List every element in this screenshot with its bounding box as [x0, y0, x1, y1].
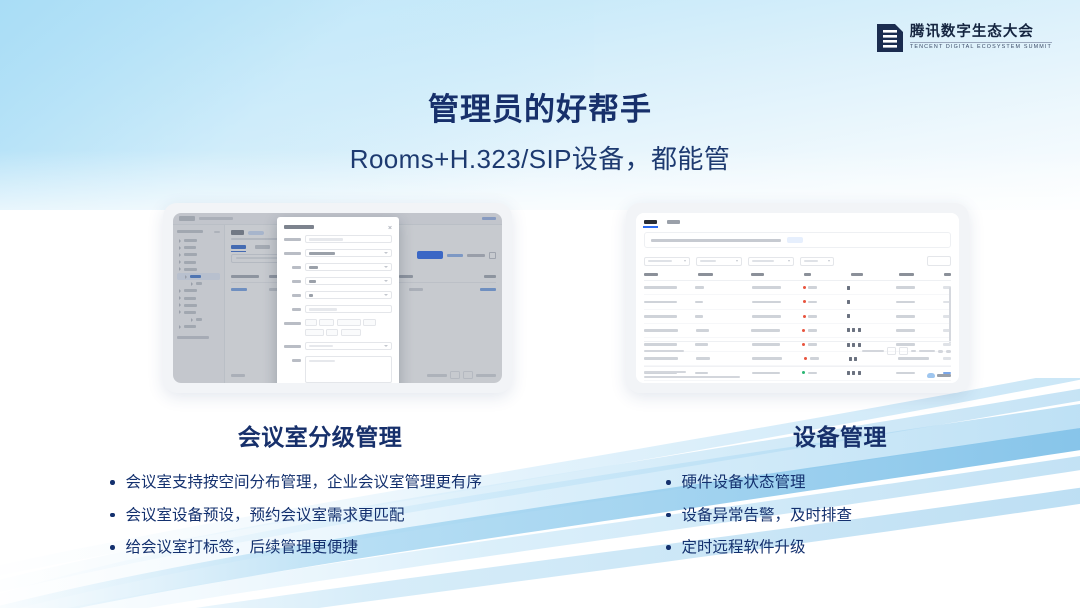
bullet-text: 硬件设备状态管理: [682, 474, 806, 493]
table-scrollbar[interactable]: [949, 287, 951, 343]
footer-copyright: [644, 376, 740, 378]
modal-field-room-name: [284, 235, 392, 243]
tencent-summit-mark-icon: [875, 22, 903, 54]
screenshot-device-management: [626, 203, 969, 393]
province-select[interactable]: [305, 263, 392, 271]
modal-field-floor: [284, 291, 392, 299]
page-info: [862, 350, 884, 353]
room-name-input[interactable]: [305, 235, 392, 243]
next-page-button[interactable]: [938, 350, 943, 353]
mic-icon: [847, 286, 850, 290]
bullet-dot-icon: [666, 480, 671, 485]
bullet-text: 给会议室打标签，后续管理更便捷: [126, 539, 359, 558]
city-select[interactable]: [305, 277, 392, 285]
mic-icon: [852, 328, 855, 332]
prev-page-button[interactable]: [899, 347, 908, 355]
mic-icon: [854, 357, 857, 361]
floor-select[interactable]: [305, 291, 392, 299]
screenshot-room-management: [163, 203, 512, 393]
modal-field-room-location: [284, 249, 392, 257]
row-action-button[interactable]: [943, 357, 951, 360]
health-icons: [847, 300, 864, 304]
bullet-dot-icon: [666, 545, 671, 550]
mic-icon: [847, 314, 850, 318]
speaker-icon: [858, 328, 861, 332]
screenshot-left-inner: [173, 213, 502, 383]
bullet-dot-icon: [110, 545, 115, 550]
table-row[interactable]: [644, 295, 951, 309]
bullet-text: 会议室支持按空间分布管理，企业会议室管理更有序: [126, 474, 483, 493]
column-device-management: 设备管理 硬件设备状态管理 设备异常告警，及时排查 定时远程软件升级: [630, 418, 1050, 572]
page-subtitle: Rooms+H.323/SIP设备，都能管: [0, 139, 1080, 176]
filter-bar: [644, 256, 951, 266]
right-pagination: [644, 341, 951, 355]
remark-textarea[interactable]: [305, 356, 392, 383]
modal-field-city: [284, 277, 392, 285]
notice-text: [651, 239, 781, 242]
table-row[interactable]: [644, 310, 951, 324]
bullet-dot-icon: [110, 480, 115, 485]
room-location-select[interactable]: [305, 249, 392, 257]
table-row[interactable]: [644, 381, 951, 384]
modal-header: [284, 225, 392, 229]
list-item: 硬件设备状态管理: [666, 474, 1050, 493]
create-room-modal: [277, 217, 399, 383]
list-item: 定时远程软件升级: [666, 539, 1050, 558]
system-notice-bar: [644, 232, 951, 248]
device-tag[interactable]: [305, 319, 317, 326]
column-heading: 设备管理: [630, 418, 1050, 452]
refresh-button[interactable]: [927, 256, 951, 266]
room-devices-tag-group: [305, 319, 392, 336]
device-tag[interactable]: [326, 329, 338, 336]
logo-title-cn: 腾讯数字生态大会: [910, 25, 1052, 40]
list-item: 会议室支持按空间分布管理，企业会议室管理更有序: [110, 474, 580, 493]
device-tag[interactable]: [337, 319, 361, 326]
room-type-select[interactable]: [305, 342, 392, 350]
logo-title-en: TENCENT DIGITAL ECOSYSTEM SUMMIT: [910, 42, 1052, 51]
bullet-list: 会议室支持按空间分布管理，企业会议室管理更有序 会议室设备预设，预约会议室需求更…: [110, 474, 580, 558]
slide-root: 腾讯数字生态大会 TENCENT DIGITAL ECOSYSTEM SUMMI…: [0, 0, 1080, 608]
tab-devices[interactable]: [644, 220, 657, 224]
device-table-header: [644, 273, 951, 281]
device-tag[interactable]: [341, 329, 361, 336]
bullet-dot-icon: [110, 513, 115, 518]
mic-icon: [847, 300, 850, 304]
filter-account[interactable]: [696, 257, 742, 266]
close-icon[interactable]: [388, 225, 392, 229]
table-row[interactable]: [644, 281, 951, 295]
filter-room-location[interactable]: [644, 257, 690, 266]
modal-field-remark: [284, 356, 392, 383]
health-icons: [849, 357, 866, 361]
device-tag[interactable]: [319, 319, 334, 326]
camera-icon: [847, 328, 850, 332]
right-app-footer: [644, 366, 951, 378]
right-tabs: [644, 220, 951, 224]
page-size-select[interactable]: [919, 350, 935, 353]
event-logo: 腾讯数字生态大会 TENCENT DIGITAL ECOSYSTEM SUMMI…: [875, 22, 1052, 54]
first-page-button[interactable]: [887, 347, 896, 355]
device-tag[interactable]: [363, 319, 376, 326]
current-page: [911, 350, 916, 353]
table-row[interactable]: [644, 324, 951, 338]
column-room-grading: 会议室分级管理 会议室支持按空间分布管理，企业会议室管理更有序 会议室设备预设，…: [60, 418, 580, 572]
modal-field-province: [284, 263, 392, 271]
bullet-list: 硬件设备状态管理 设备异常告警，及时排查 定时远程软件升级: [666, 474, 1050, 558]
health-icons: [847, 314, 864, 318]
right-app-root: [636, 213, 959, 383]
list-item: 给会议室打标签，后续管理更便捷: [110, 539, 580, 558]
address-input[interactable]: [305, 305, 392, 313]
modal-field-room-devices: [284, 319, 392, 336]
bullet-text: 设备异常告警，及时排查: [682, 507, 853, 526]
bullet-text: 定时远程软件升级: [682, 539, 806, 558]
list-item: 会议室设备预设，预约会议室需求更匹配: [110, 507, 580, 526]
page-title: 管理员的好帮手: [0, 84, 1080, 129]
screenshot-right-inner: [636, 213, 959, 383]
health-icons: [847, 286, 864, 290]
total-count-label: [644, 350, 684, 353]
logo-text-block: 腾讯数字生态大会 TENCENT DIGITAL ECOSYSTEM SUMMI…: [910, 25, 1052, 50]
health-icons: [847, 328, 864, 332]
column-heading: 会议室分级管理: [60, 418, 580, 452]
filter-status[interactable]: [800, 257, 834, 266]
footer-links[interactable]: [644, 371, 686, 373]
filter-device-system[interactable]: [748, 257, 794, 266]
modal-field-room-type: [284, 342, 392, 350]
notice-detail-button[interactable]: [787, 237, 803, 243]
modal-title: [284, 225, 314, 229]
list-item: 设备异常告警，及时排查: [666, 507, 1050, 526]
tencent-cloud-logo: [927, 373, 951, 378]
bullet-dot-icon: [666, 513, 671, 518]
device-tag[interactable]: [305, 329, 324, 336]
tab-settings[interactable]: [667, 220, 680, 224]
camera-icon: [849, 357, 852, 361]
modal-field-address: [284, 305, 392, 313]
cloud-icon: [927, 373, 935, 378]
bullet-text: 会议室设备预设，预约会议室需求更匹配: [126, 507, 405, 526]
last-page-button[interactable]: [946, 350, 951, 353]
